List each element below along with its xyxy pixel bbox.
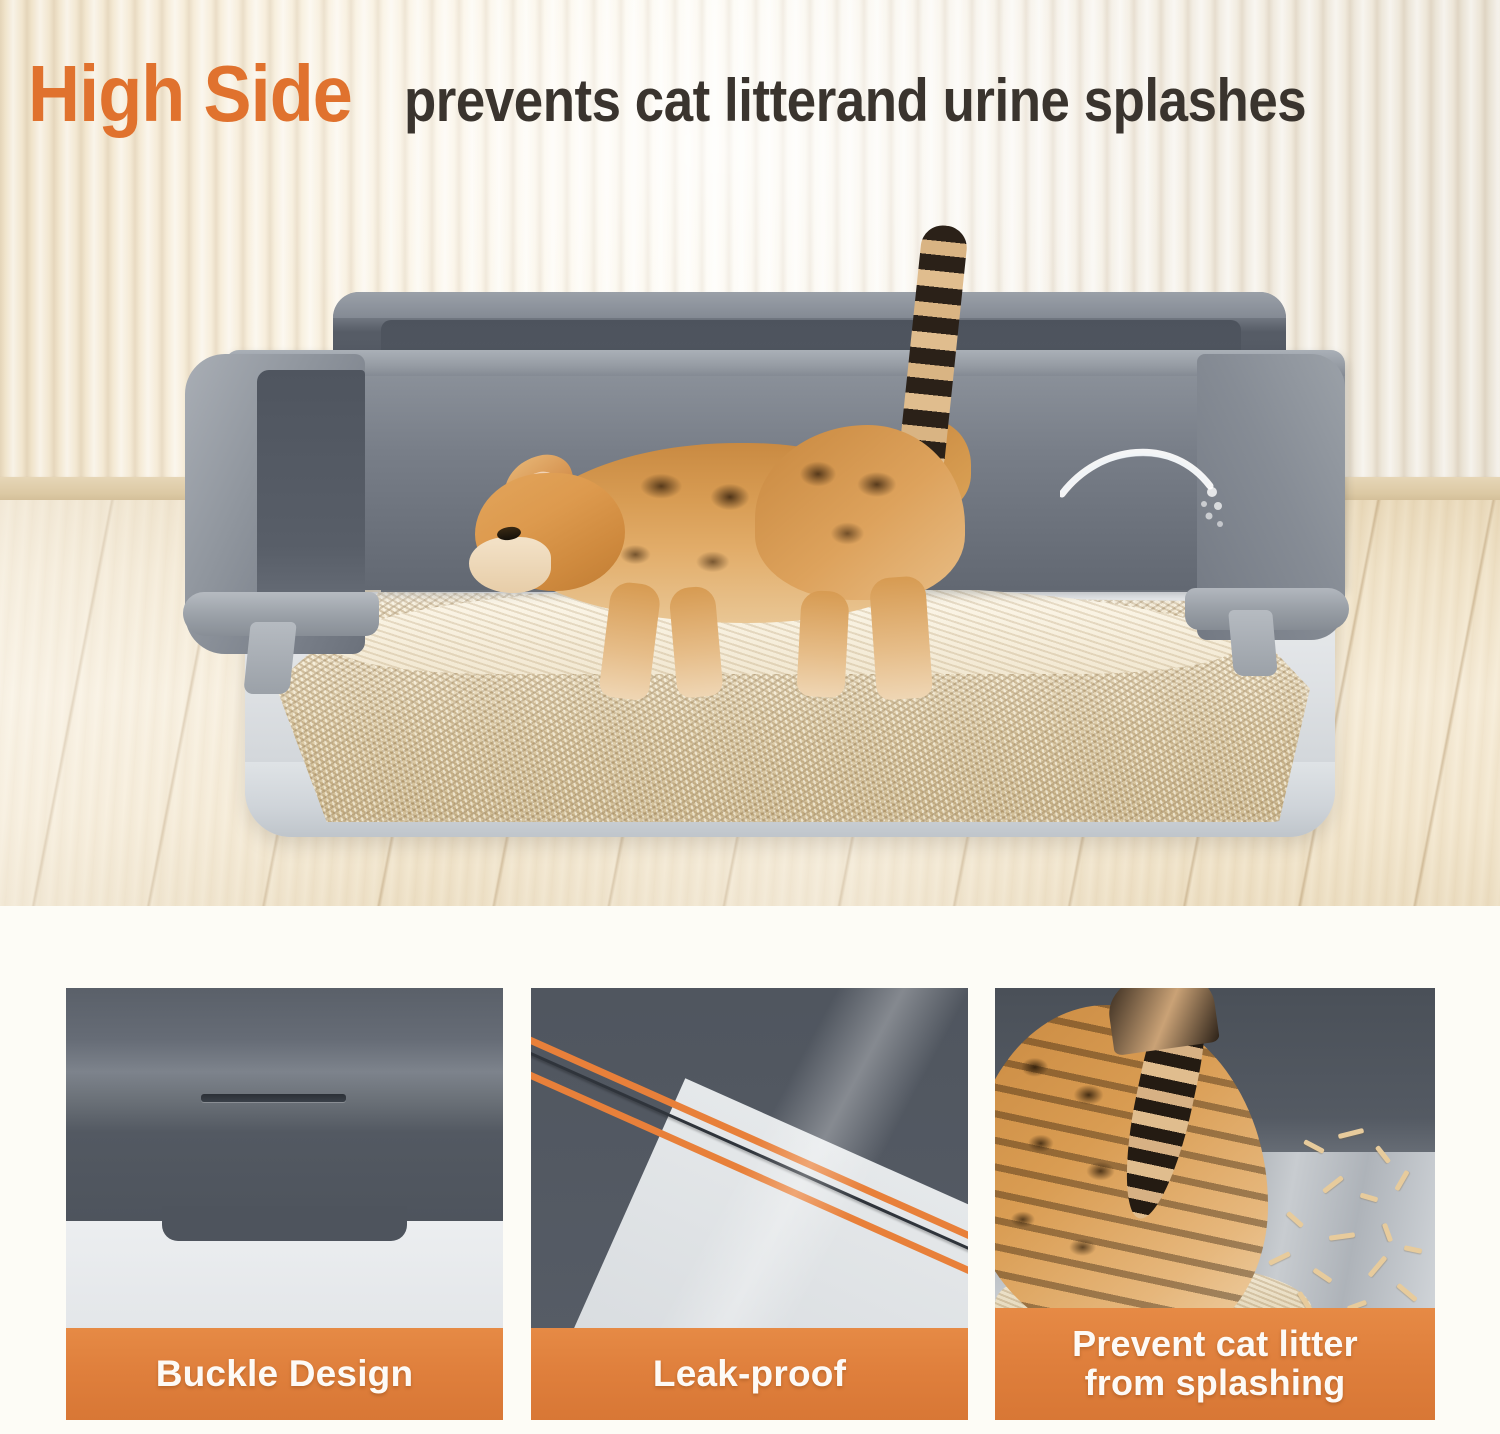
feature-panel-buckle-design: Buckle Design [66,988,503,1420]
cat-leg-back-left [869,575,933,701]
litter-box-foot-left [243,622,297,694]
caption-bar-buckle-design: Buckle Design [66,1328,503,1420]
caption-line-2: from splashing [1085,1362,1346,1403]
feature-panels: Buckle Design Leak-proof [0,906,1500,1434]
feature-panel-leak-proof: Leak-proof [531,988,968,1420]
product-feature-graphic: High Side prevents cat litterand urine s… [0,0,1500,1434]
caption-text-leak-proof: Leak-proof [653,1354,846,1394]
hero-image: High Side prevents cat litterand urine s… [0,0,1500,906]
litter-box-left-wing-shadow [257,370,365,620]
cat-muzzle [469,537,551,593]
caption-text-buckle-design: Buckle Design [156,1354,414,1394]
bengal-cat [455,225,1095,705]
buckle-panel-upper-shell [66,988,503,1221]
buckle-slot [201,1094,345,1102]
caption-bar-prevent-splashing: Prevent cat litter from splashing [995,1308,1435,1420]
caption-line-1: Prevent cat litter [1072,1323,1358,1364]
cat-leg-back-right [796,590,849,698]
feature-panel-prevent-splashing: Prevent cat litter from splashing [995,988,1435,1420]
litter-box-foot-right [1228,610,1278,676]
cat-leg-front-right [668,585,723,699]
headline-emphasis: High Side [28,56,352,132]
headline-subtext: prevents cat litterand urine splashes [404,71,1306,131]
caption-bar-leak-proof: Leak-proof [531,1328,968,1420]
headline: High Side prevents cat litterand urine s… [28,56,1478,152]
caption-text-prevent-splashing: Prevent cat litter from splashing [1072,1325,1358,1403]
buckle-notch [162,1206,407,1241]
